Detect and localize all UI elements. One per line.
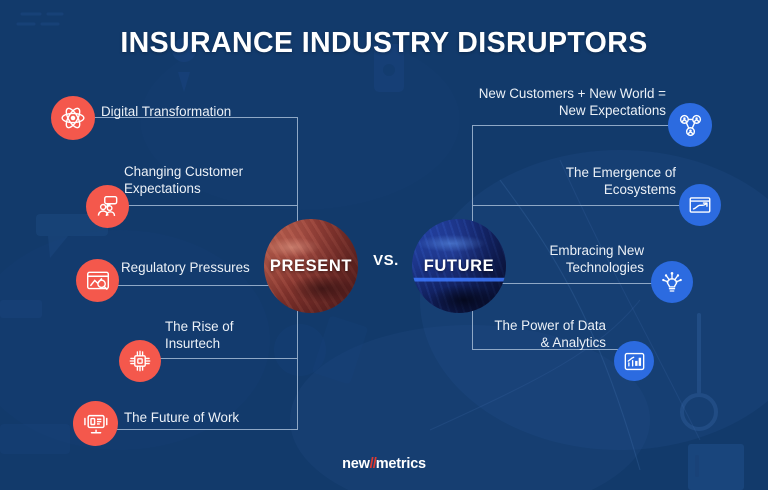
- growth-chart-icon[interactable]: [679, 184, 721, 226]
- lightbulb-tech-icon[interactable]: [651, 261, 693, 303]
- item-label-future-of-work: The Future of Work: [124, 409, 239, 426]
- right-branch-3: [495, 283, 654, 284]
- hub-present[interactable]: PRESENT: [264, 219, 358, 313]
- newmetrics-logo[interactable]: new//metrics: [0, 456, 768, 472]
- page-title: INSURANCE INDUSTRY DISRUPTORS: [0, 27, 768, 60]
- atom-icon[interactable]: [51, 96, 95, 140]
- item-label-emergence-of-ecosystems: The Emergence of Ecosystems: [420, 164, 676, 198]
- item-label-power-of-data-analytics: The Power of Data & Analytics: [400, 317, 606, 351]
- hub-future[interactable]: FUTURE: [412, 219, 506, 313]
- logo-word-new: new: [342, 456, 370, 472]
- customer-feedback-icon[interactable]: [86, 185, 129, 228]
- item-label-new-customers-new-world: New Customers + New World = New Expectat…: [396, 85, 666, 119]
- item-label-digital-transformation: Digital Transformation: [101, 103, 231, 120]
- hub-future-label: FUTURE: [424, 257, 495, 276]
- left-branch-4: [160, 358, 298, 359]
- network-people-icon[interactable]: [668, 103, 712, 147]
- left-branch-5: [115, 429, 298, 430]
- right-branch-2: [472, 205, 680, 206]
- right-branch-1: [472, 125, 676, 126]
- item-label-regulatory-pressures: Regulatory Pressures: [121, 259, 250, 276]
- logo-word-metrics: metrics: [376, 456, 426, 472]
- item-label-changing-customer-expectations: Changing Customer Expectations: [124, 163, 243, 197]
- document-search-icon[interactable]: [76, 259, 119, 302]
- vs-label: VS.: [362, 252, 410, 269]
- bar-chart-icon[interactable]: [614, 341, 654, 381]
- hub-present-label: PRESENT: [270, 257, 352, 276]
- item-label-rise-of-insurtech: The Rise of Insurtech: [165, 318, 233, 352]
- left-branch-2: [128, 205, 298, 206]
- microchip-icon[interactable]: [119, 340, 161, 382]
- desktop-monitor-icon[interactable]: [73, 401, 118, 446]
